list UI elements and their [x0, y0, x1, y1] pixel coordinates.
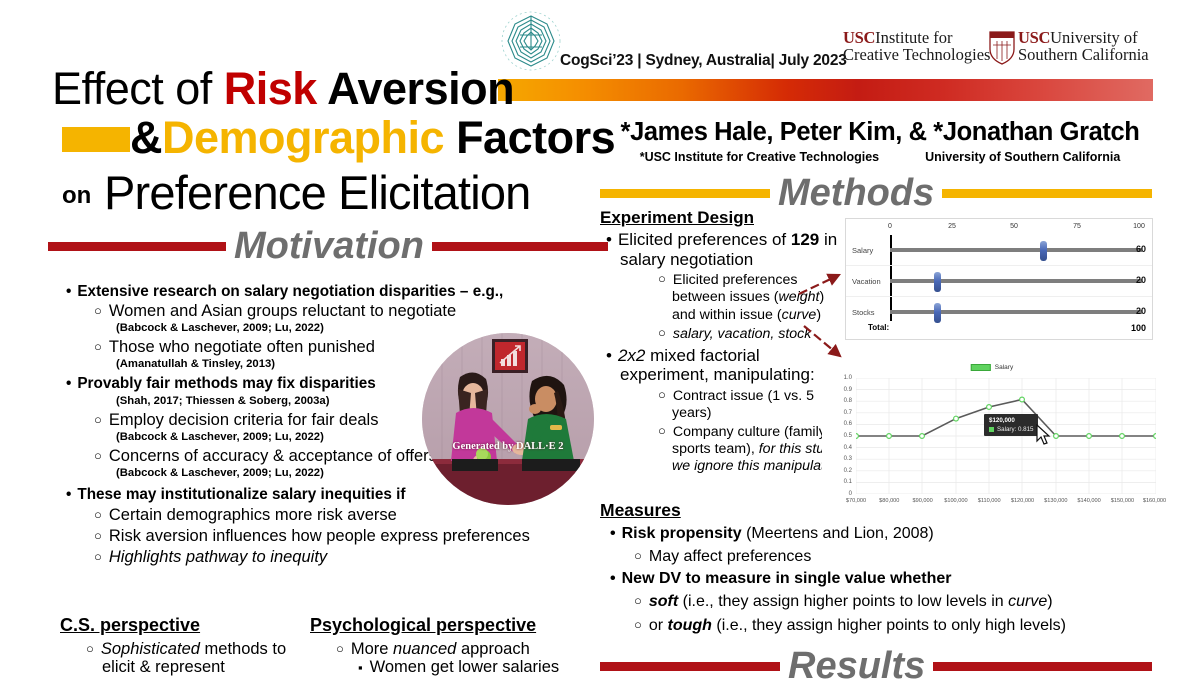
- axis-tick: $140,000: [1077, 498, 1100, 504]
- poster-canvas: CogSci’23 | Sydney, Australia| July 2023…: [0, 0, 1200, 675]
- axis-tick: 100: [1133, 223, 1145, 230]
- results-label: Results: [780, 645, 933, 688]
- salary-curve-chart[interactable]: Salary 1.0 0.9 0.8 0.7 0.6 0.5 0.4 0.3 0…: [822, 362, 1162, 514]
- slider-value: 60: [1136, 244, 1146, 254]
- page-title-line2: &Demographic Factors: [130, 112, 615, 164]
- y-axis-labels: 1.0 0.9 0.8 0.7 0.6 0.5 0.4 0.3 0.2 0.1 …: [826, 378, 854, 494]
- slider-track[interactable]: [890, 310, 1142, 314]
- results-rule-left: [600, 662, 780, 671]
- slider-label: Vacation: [852, 277, 881, 286]
- methods-rule-right: [942, 189, 1152, 198]
- title-demographic: Demographic: [162, 112, 444, 163]
- list-item: Women and Asian groups reluctant to nego…: [94, 302, 618, 321]
- slider-knob-vacation[interactable]: [934, 272, 941, 292]
- axis-tick: 0.5: [844, 433, 852, 439]
- list-item: Elicited preferences of 129 in salary ne…: [606, 230, 850, 269]
- axis-tick: 25: [948, 223, 956, 230]
- axis-tick: 0: [888, 223, 892, 230]
- list-item: 2x2 mixed factorial experiment, manipula…: [606, 346, 850, 385]
- negotiation-illustration: Generated by DALL·E 2: [422, 333, 594, 505]
- page-title-line1: Effect of Risk Aversion: [52, 63, 514, 115]
- tooltip-series-value: Salary: 0.815: [997, 426, 1033, 433]
- section-heading-motivation: Motivation: [48, 225, 608, 268]
- title-amber-block: [62, 127, 130, 152]
- experiment-design-heading: Experiment Design: [600, 208, 850, 228]
- total-label: Total:: [868, 323, 889, 332]
- list-item: Women get lower salaries: [358, 658, 610, 676]
- list-item: salary, vacation, stock: [658, 325, 850, 343]
- slider-row-vacation[interactable]: Vacation 20: [846, 266, 1152, 297]
- axis-tick: 0.6: [844, 421, 852, 427]
- list-item: May affect preferences: [634, 545, 1160, 569]
- axis-tick: $120,000: [1011, 498, 1034, 504]
- list-item: Risk propensity (Meertens and Lion, 2008…: [610, 524, 1160, 545]
- slider-axis-ticks: 0 25 50 75 100: [890, 223, 1100, 235]
- slider-label: Salary: [852, 246, 873, 255]
- section-heading-results: Results: [600, 645, 1152, 688]
- legend-swatch-salary: [971, 364, 991, 371]
- methods-body: Experiment Design Elicited preferences o…: [600, 208, 850, 475]
- motivation-label: Motivation: [226, 225, 432, 268]
- axis-tick: $160,000: [1143, 498, 1166, 504]
- risk-propensity-label: Risk propensity: [622, 525, 742, 542]
- participant-count: 129: [791, 230, 819, 249]
- slider-value: 20: [1136, 275, 1146, 285]
- usc-ict-logo: USCInstitute for Creative Technologies: [843, 30, 990, 64]
- list-item: Highlights pathway to inequity: [94, 548, 618, 567]
- usc-shield-icon: [988, 29, 1016, 65]
- tooltip-x-label: $120,000: [989, 417, 1033, 424]
- usc-main-line2: Southern California: [1018, 45, 1149, 64]
- axis-tick: 0.2: [844, 468, 852, 474]
- axis-tick: $70,000: [846, 498, 866, 504]
- methods-rule-left: [600, 189, 770, 198]
- axis-tick: $130,000: [1044, 498, 1067, 504]
- list-item: New DV to measure in single value whethe…: [610, 569, 1160, 590]
- axis-tick: $150,000: [1111, 498, 1134, 504]
- usc-ict-line2: Creative Technologies: [843, 45, 990, 64]
- results-rule-right: [933, 662, 1152, 671]
- slider-track[interactable]: [890, 248, 1142, 252]
- chart-plot-area[interactable]: $120,000 Salary: 0.815: [856, 378, 1156, 494]
- psy-perspective-title: Psychological perspective: [310, 615, 610, 636]
- tooltip-swatch: [989, 427, 994, 432]
- axis-tick: 75: [1073, 223, 1081, 230]
- axis-tick: 50: [1010, 223, 1018, 230]
- slider-value: 20: [1136, 306, 1146, 316]
- list-item: Elicited preferences between issues (wei…: [658, 271, 850, 323]
- illustration-caption: Generated by DALL·E 2: [422, 441, 594, 452]
- slider-rows: Salary 60 Vacation 20 Stocks 20: [846, 235, 1152, 321]
- slider-knob-stocks[interactable]: [934, 303, 941, 323]
- citation: (Babcock & Laschever, 2009; Lu, 2022): [116, 321, 618, 335]
- author-names: *James Hale, Peter Kim, & *Jonathan Grat…: [600, 118, 1160, 147]
- title-on: on: [62, 182, 91, 210]
- list-item: soft (i.e., they assign higher points to…: [634, 590, 1160, 614]
- list-item: Risk aversion influences how people expr…: [94, 527, 618, 546]
- measures-body: Measures Risk propensity (Meertens and L…: [600, 500, 1160, 638]
- title-ampersand: &: [130, 112, 162, 163]
- axis-tick: 0.3: [844, 456, 852, 462]
- author-affiliation-2: University of Southern California: [925, 150, 1120, 164]
- list-item: Certain demographics more risk averse: [94, 506, 618, 525]
- total-value: 100: [1131, 323, 1146, 333]
- chart-legend: Salary: [971, 364, 1013, 371]
- axis-tick: 0: [849, 491, 852, 497]
- axis-tick: $110,000: [978, 498, 1001, 504]
- page-title-line3: Preference Elicitation: [104, 165, 531, 220]
- axis-tick: 0.4: [844, 445, 852, 451]
- slider-track[interactable]: [890, 279, 1142, 283]
- author-affiliation-1: *USC Institute for Creative Technologies: [640, 150, 879, 164]
- slider-row-salary[interactable]: Salary 60: [846, 235, 1152, 266]
- motivation-rule-left: [48, 242, 226, 251]
- chart-tooltip: $120,000 Salary: 0.815: [984, 414, 1038, 436]
- slider-total-row: Total: 100: [846, 323, 1152, 337]
- x-axis-labels: $70,000 $80,000 $90,000 $100,000 $110,00…: [856, 498, 1156, 510]
- title-aversion: Aversion: [317, 63, 514, 114]
- cs-perspective-column: C.S. perspective Sophisticated methods t…: [60, 615, 310, 677]
- axis-tick: 0.9: [844, 387, 852, 393]
- axis-tick: $80,000: [879, 498, 899, 504]
- list-item: More nuanced approach: [336, 640, 610, 658]
- slider-label: Stocks: [852, 308, 875, 317]
- title-factors: Factors: [444, 112, 615, 163]
- risk-propensity-cite: (Meertens and Lion, 2008): [742, 525, 934, 542]
- cs-perspective-title: C.S. perspective: [60, 615, 310, 636]
- header-gradient-bar: [498, 79, 1153, 101]
- conference-info: CogSci’23 | Sydney, Australia| July 2023: [560, 52, 847, 70]
- perspectives-block: C.S. perspective Sophisticated methods t…: [60, 615, 620, 677]
- list-item: elicit & represent: [102, 658, 310, 676]
- slider-knob-salary[interactable]: [1040, 241, 1047, 261]
- usc-university-logo: USCUniversity of Southern California: [1018, 30, 1149, 64]
- axis-tick: 0.8: [844, 398, 852, 404]
- authors-block: *James Hale, Peter Kim, & *Jonathan Grat…: [600, 118, 1160, 164]
- axis-tick: 1.0: [844, 375, 852, 381]
- axis-tick: $90,000: [912, 498, 932, 504]
- axis-tick: 0.7: [844, 410, 852, 416]
- title-risk: Risk: [224, 63, 317, 114]
- weight-slider-widget[interactable]: 0 25 50 75 100 Salary 60 Vacation 20 Sto…: [845, 218, 1153, 340]
- axis-tick: $100,000: [944, 498, 967, 504]
- title-effect-of: Effect of: [52, 63, 224, 114]
- list-item: Sophisticated methods to: [86, 640, 310, 658]
- list-item: or tough (i.e., they assign higher point…: [634, 614, 1160, 638]
- mouse-cursor-icon: [1036, 424, 1052, 451]
- legend-label-salary: Salary: [995, 364, 1013, 371]
- psychological-perspective-column: Psychological perspective More nuanced a…: [310, 615, 610, 677]
- axis-tick: 0.1: [844, 479, 852, 485]
- motivation-rule-right: [432, 242, 608, 251]
- list-item: Extensive research on salary negotiation…: [66, 283, 618, 301]
